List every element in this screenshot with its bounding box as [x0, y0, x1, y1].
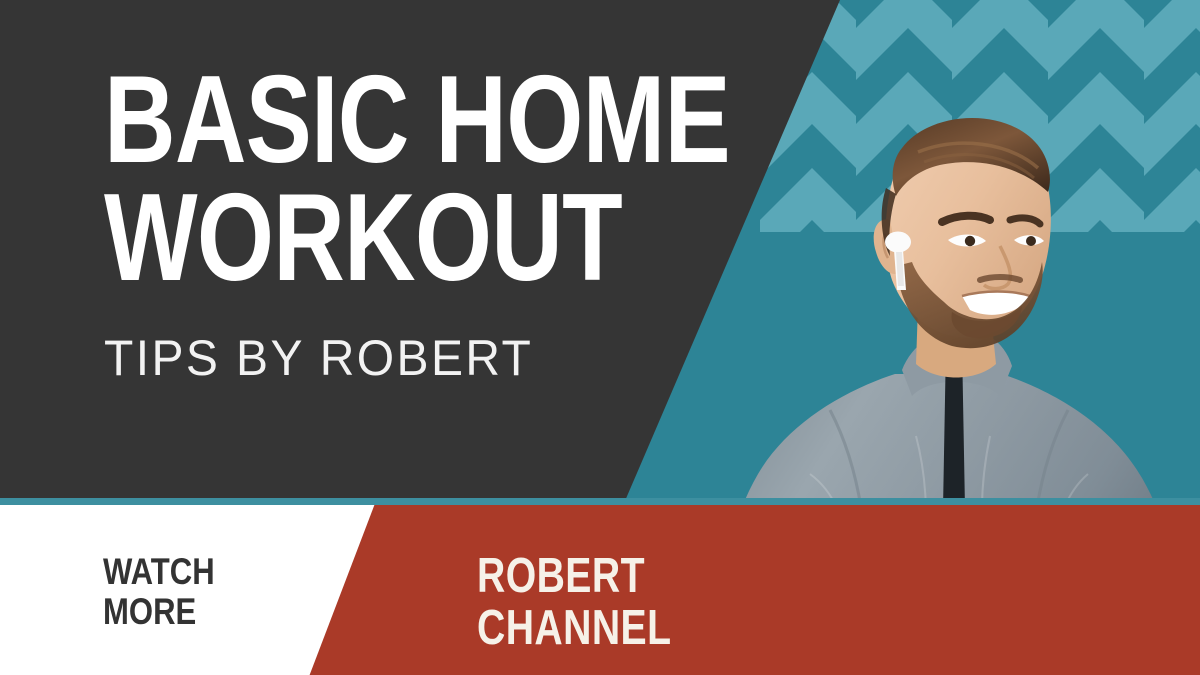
footer-bar: WATCH MORE ROBERT CHANNEL [0, 505, 1200, 675]
headline-text-block: BASIC HOME WORKOUT TIPS BY ROBERT [104, 62, 744, 384]
channel-name-label[interactable]: ROBERT CHANNEL [477, 551, 671, 655]
title-line-1: BASIC HOME [104, 62, 616, 180]
subtitle: TIPS BY ROBERT [104, 332, 718, 385]
title-line-2: WORKOUT [104, 180, 616, 298]
youtube-thumbnail: BASIC HOME WORKOUT TIPS BY ROBERT WATCH … [0, 0, 1200, 675]
channel-name-line-2: CHANNEL [477, 603, 671, 655]
watch-more-line-2: MORE [103, 592, 215, 632]
channel-name-line-1: ROBERT [477, 551, 671, 603]
watch-more-label[interactable]: WATCH MORE [103, 552, 215, 632]
watch-more-line-1: WATCH [103, 552, 215, 592]
